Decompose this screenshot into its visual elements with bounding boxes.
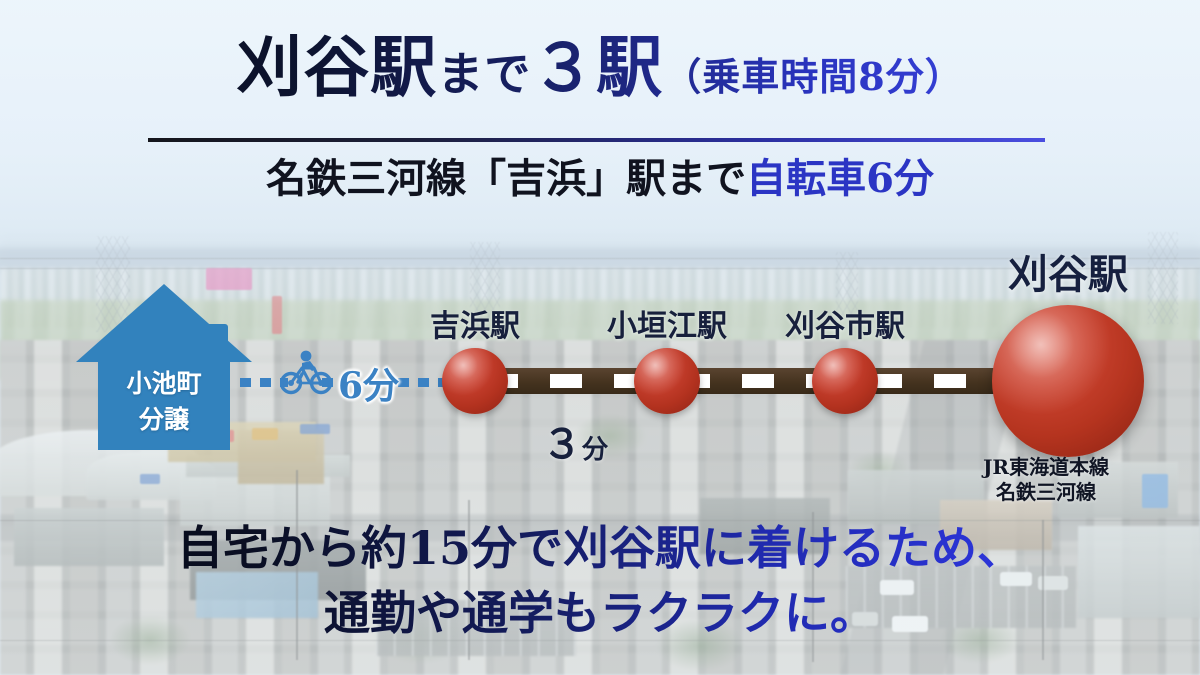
title-main: 刈谷駅 [236, 28, 437, 106]
home-badge-line2: 分譲 [76, 402, 252, 438]
title-station-unit: 駅 [596, 28, 663, 106]
segment-time-number: ３ [542, 421, 582, 468]
slide-canvas: 刈谷駅まで３駅（乗車時間8分） 名鉄三河線「吉浜」駅まで自転車6分 小池町 分譲… [0, 0, 1200, 675]
line-jr-tokaido: JR東海道本線 [946, 455, 1146, 480]
title-ride-time: （乗車時間8分） [663, 54, 963, 99]
home-badge-label: 小池町 分譲 [76, 366, 252, 439]
station-label-kariya: 刈谷駅 [968, 255, 1168, 295]
station-label-yoshihama: 吉浜駅 [400, 312, 550, 342]
footer-line-1: 自宅から約15分で刈谷駅に着けるため、 [0, 516, 1200, 581]
station-dot-kariya[interactable] [992, 305, 1144, 457]
rail-line [470, 368, 1030, 394]
segment-time-unit: 分 [582, 435, 608, 465]
station-dot-yoshihama[interactable] [442, 348, 508, 414]
station-label-kariyashi: 刈谷市駅 [760, 312, 930, 342]
footer-line-2: 通勤や通学もラクラクに。 [0, 581, 1200, 646]
kariya-lines-note: JR東海道本線 名鉄三河線 [946, 455, 1146, 505]
station-dot-ogakie[interactable] [634, 348, 700, 414]
bike-time-label: 6分 [338, 357, 399, 409]
page-subtitle: 名鉄三河線「吉浜」駅まで自転車6分 [0, 155, 1200, 203]
subtitle-route: 名鉄三河線「吉浜」駅まで [266, 155, 746, 202]
subtitle-bike-time: 自転車6分 [746, 155, 934, 202]
page-title: 刈谷駅まで３駅（乗車時間8分） [0, 34, 1200, 101]
station-label-ogakie: 小垣江駅 [578, 312, 756, 342]
segment-time-label: ３分 [515, 412, 635, 470]
house-roof-icon [76, 284, 252, 362]
bicycle-icon [280, 350, 332, 396]
line-meitetsu-mikawa: 名鉄三河線 [946, 480, 1146, 505]
footer-message: 自宅から約15分で刈谷駅に着けるため、 通勤や通学もラクラクに。 [0, 516, 1200, 647]
title-divider [148, 138, 1045, 142]
home-badge-line1: 小池町 [76, 366, 252, 402]
home-location-badge[interactable]: 小池町 分譲 [76, 284, 252, 450]
title-station-count: ３ [531, 31, 596, 106]
title-mid: まで [437, 47, 531, 101]
rail-ties [470, 374, 1030, 388]
station-dot-kariyashi[interactable] [812, 348, 878, 414]
